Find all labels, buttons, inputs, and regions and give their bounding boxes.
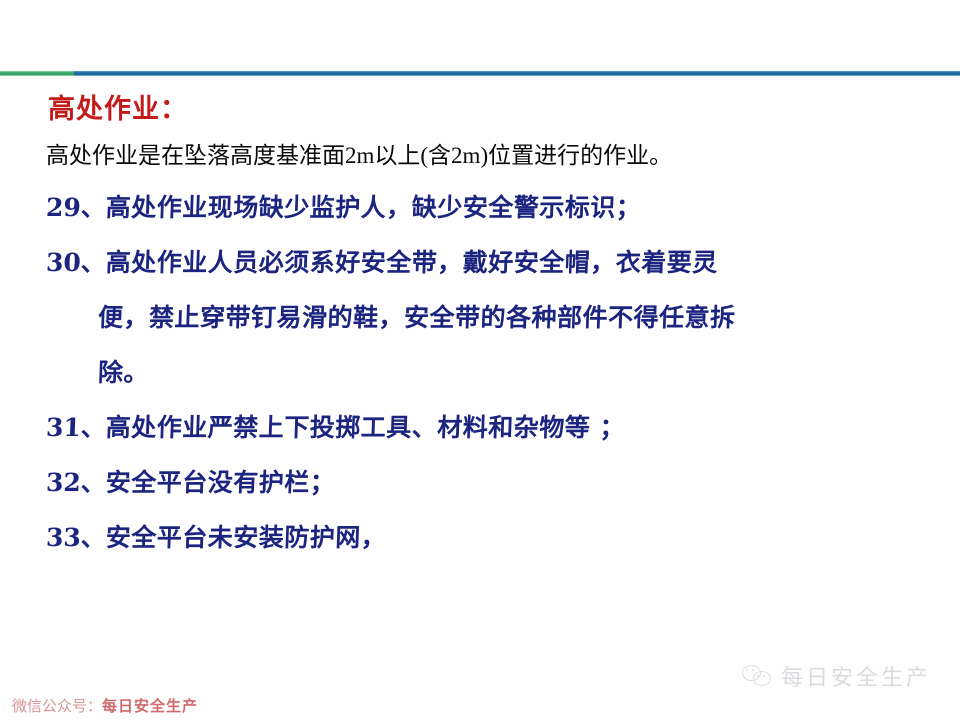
list-item-29: 29、高处作业现场缺少监护人，缺少安全警示标识； bbox=[45, 180, 927, 235]
list-item-30-continuation-1-text: 便，禁止穿带钉易滑的鞋，安全带的各种部件不得任意拆 bbox=[97, 303, 736, 332]
slide-canvas: 高处作业： 高处作业是在坠落高度基准面2m以上(含2m)位置进行的作业。 29、… bbox=[0, 0, 960, 720]
list-item-33-text: 安全平台未安装防护网， bbox=[105, 523, 387, 552]
list-item-32: 32、安全平台没有护栏； bbox=[45, 455, 927, 510]
list-item-30-continuation-2: 除。 bbox=[45, 345, 927, 400]
list-item-29-text: 高处作业现场缺少监护人，缺少安全警示标识； bbox=[105, 193, 642, 222]
list-item-30-continuation-1: 便，禁止穿带钉易滑的鞋，安全带的各种部件不得任意拆 bbox=[45, 290, 927, 345]
list-item-30-text: 高处作业人员必须系好安全带，戴好安全帽，衣着要灵 bbox=[105, 248, 718, 277]
watermark: 每日安全生产 bbox=[742, 660, 931, 692]
definition-text: 高处作业是在坠落高度基准面2m以上(含2m)位置进行的作业。 bbox=[46, 140, 926, 172]
list-item-32-text: 安全平台没有护栏； bbox=[105, 468, 336, 497]
wechat-icon-dot bbox=[746, 669, 748, 671]
header-divider-rule bbox=[0, 71, 960, 76]
list-item-31-number: 31、 bbox=[45, 413, 106, 442]
footer-credit-account-name: 每日安全生产 bbox=[102, 697, 198, 715]
footer-credit: 微信公众号：每日安全生产 bbox=[12, 695, 198, 716]
list-item-31-text: 高处作业严禁上下投掷工具、材料和杂物等 ； bbox=[105, 413, 625, 442]
list-item-31: 31、高处作业严禁上下投掷工具、材料和杂物等 ； bbox=[45, 400, 927, 455]
divider-green-segment bbox=[0, 71, 74, 76]
list-item-30-number: 30、 bbox=[45, 248, 106, 277]
list-item-32-number: 32、 bbox=[45, 468, 106, 497]
footer-credit-label: 微信公众号： bbox=[12, 697, 102, 715]
wechat-icon bbox=[742, 663, 772, 689]
list-item-30-continuation-2-text: 除。 bbox=[97, 358, 149, 387]
section-heading: 高处作业： bbox=[48, 92, 926, 128]
list-item-29-number: 29、 bbox=[45, 193, 106, 222]
wechat-icon-dot bbox=[763, 675, 765, 677]
list-item-30: 30、高处作业人员必须系好安全带，戴好安全帽，衣着要灵 bbox=[45, 235, 927, 290]
watermark-text: 每日安全生产 bbox=[781, 660, 931, 692]
divider-blue-segment bbox=[74, 71, 960, 76]
list-item-33: 33、安全平台未安装防护网， bbox=[45, 510, 927, 565]
list-item-33-number: 33、 bbox=[45, 523, 106, 552]
wechat-icon-bubble-front bbox=[753, 671, 771, 686]
wechat-icon-dot bbox=[752, 669, 754, 671]
slide-content: 高处作业： 高处作业是在坠落高度基准面2m以上(含2m)位置进行的作业。 29、… bbox=[46, 92, 926, 565]
wechat-icon-dot bbox=[757, 675, 759, 677]
